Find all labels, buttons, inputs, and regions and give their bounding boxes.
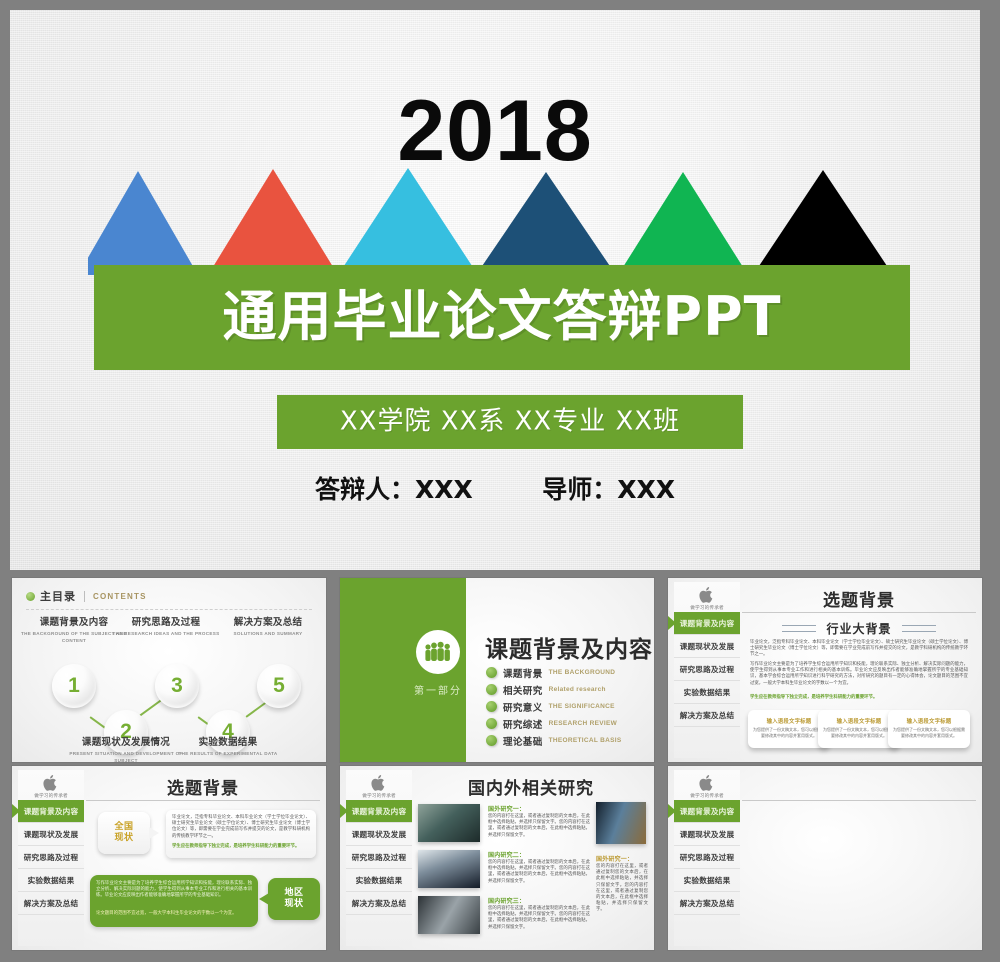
section-item[interactable]: 相关研究 Related research bbox=[486, 681, 621, 698]
item-en: THE BACKGROUND bbox=[549, 669, 616, 676]
section-part-label: 第一部分 bbox=[398, 682, 478, 697]
sidebar-item-1[interactable]: 课题现状及发展 bbox=[674, 823, 740, 846]
sidebar-item-label: 研究思路及过程 bbox=[24, 852, 79, 863]
brand-logo: 做学习的传承者 bbox=[346, 774, 412, 799]
sidebar-items: 课题背景及内容 课题现状及发展 研究思路及过程 实验数据结果 解决方案及总结 bbox=[18, 800, 84, 915]
main-slide[interactable]: 2018 通用毕业论文答辩PPT XX学院 XX系 XX专业 XX班 答辩人：X… bbox=[10, 10, 980, 570]
bullet-icon bbox=[486, 684, 497, 695]
card-body: 为您提供了一份文稿文本，您可以根据需要修改其中的内容并套用版式。 bbox=[753, 727, 825, 739]
subtitle-text: 行业大背景 bbox=[826, 622, 891, 636]
sidebar-item-3[interactable]: 实验数据结果 bbox=[674, 681, 740, 704]
sidebar-item-label: 课题背景及内容 bbox=[680, 618, 735, 629]
mountain-peaks-graphic bbox=[88, 165, 918, 275]
sidebar-item-label: 解决方案及总结 bbox=[680, 898, 735, 909]
catalog-heading-en: CONTENTS bbox=[93, 592, 147, 601]
sidebar-items: 课题背景及内容 课题现状及发展 研究思路及过程 实验数据结果 解决方案及总结 bbox=[674, 612, 740, 727]
research-body-2: 您的内容打在这里，或者通过复制您的文本后，在此框中选择粘贴，并选择只保留文字。您… bbox=[488, 860, 590, 885]
sidebar-item-4[interactable]: 解决方案及总结 bbox=[674, 892, 740, 915]
section-item[interactable]: 研究意义 THE SIGNIFICANCE bbox=[486, 698, 621, 715]
sidebar-item-label: 课题现状及发展 bbox=[680, 829, 735, 840]
sidebar-item-label: 实验数据结果 bbox=[28, 875, 75, 886]
slide-sidebar: 做学习的传承者 课题背景及内容 课题现状及发展 研究思路及过程 实验数据结果 解… bbox=[674, 770, 740, 946]
catalog-node-1[interactable]: 1 bbox=[52, 664, 96, 708]
apple-icon bbox=[699, 586, 715, 604]
peak-blue bbox=[88, 171, 198, 275]
slide-body: 选题背景 行业大背景 毕业论文，泛指专科毕业论文、本科毕业论文（学士学位毕业论文… bbox=[742, 582, 976, 758]
sidebar-item-2[interactable]: 研究思路及过程 bbox=[674, 846, 740, 869]
sidebar-item-label: 解决方案及总结 bbox=[680, 710, 735, 721]
catalog-heading-zh: 主目录 bbox=[40, 588, 76, 604]
item-zh: 理论基础 bbox=[503, 734, 543, 748]
sidebar-item-0[interactable]: 课题背景及内容 bbox=[674, 800, 740, 823]
sidebar-item-0[interactable]: 课题背景及内容 bbox=[346, 800, 412, 823]
research-body-3: 您的内容打在这里，或者通过复制您的文本后，在此框中选择粘贴，并选择只保留文字。您… bbox=[488, 906, 590, 931]
slide-sidebar: 做学习的传承者 课题背景及内容 课题现状及发展 研究思路及过程 实验数据结果 解… bbox=[18, 770, 84, 946]
photo-stairs bbox=[418, 804, 480, 842]
presenter-name: 答辩人：XXX bbox=[315, 475, 473, 505]
catalog-heading: 主目录 CONTENTS bbox=[26, 588, 147, 604]
thumbnail-grid: 主目录 CONTENTS 1 2 3 4 bbox=[0, 576, 1000, 962]
sidebar-items: 课题背景及内容 课题现状及发展 研究思路及过程 实验数据结果 解决方案及总结 bbox=[674, 800, 740, 915]
peak-black bbox=[753, 170, 893, 275]
heading-rule bbox=[26, 609, 312, 610]
slide-title: 选题背景 bbox=[86, 774, 320, 799]
sidebar-item-0[interactable]: 课题背景及内容 bbox=[674, 612, 740, 635]
sidebar-item-label: 课题现状及发展 bbox=[352, 829, 407, 840]
sidebar-item-2[interactable]: 研究思路及过程 bbox=[18, 846, 84, 869]
people-group-icon bbox=[416, 630, 460, 674]
research-body-1: 您的内容打在这里，或者通过复制您的文本后，在此框中选择粘贴，并选择只保留文字。您… bbox=[488, 814, 590, 839]
title-rule bbox=[86, 800, 320, 801]
brand-logo: 做学习的传承者 bbox=[674, 586, 740, 611]
leaf-dot-icon bbox=[26, 592, 35, 601]
thumbnail-topic-background-industry[interactable]: 做学习的传承者 课题背景及内容 课题现状及发展 研究思路及过程 实验数据结果 解… bbox=[668, 578, 982, 762]
sidebar-item-label: 研究思路及过程 bbox=[680, 852, 735, 863]
section-title: 课题背景及内容 bbox=[485, 630, 653, 664]
node-number: 3 bbox=[171, 674, 183, 698]
bullet-icon bbox=[486, 735, 497, 746]
section-item-list: 课题背景 THE BACKGROUND 相关研究 Related researc… bbox=[486, 664, 621, 749]
panel-highlight: 学生应在教师指导下独立完成，是培养学生科研能力的重要环节。 bbox=[172, 844, 310, 850]
research-heading-2: 国内研究二： bbox=[488, 850, 525, 859]
sidebar-item-4[interactable]: 解决方案及总结 bbox=[674, 704, 740, 727]
callout-label: 地区 现状 bbox=[284, 888, 303, 910]
body-paragraph-1: 毕业论文，泛指专科毕业论文、本科毕业论文（学士学位毕业论文）、硕士研究生毕业论文… bbox=[750, 640, 968, 659]
logo-caption: 做学习的传承者 bbox=[18, 793, 84, 799]
body-paragraph-2: 写作毕业论文主要是为了培养学生综合运用所学知识和技能，理论联系实际、独立分析、解… bbox=[750, 662, 968, 687]
subtitle-band: XX学院 XX系 XX专业 XX班 bbox=[277, 395, 743, 449]
item-en: Related research bbox=[549, 686, 606, 693]
catalog-label-4: 实验数据结果 THE RESULTS OF EXPERIMENTAL DATA bbox=[168, 734, 288, 757]
title-rule bbox=[742, 800, 976, 801]
node-number: 5 bbox=[273, 674, 285, 698]
sidebar-item-label: 实验数据结果 bbox=[356, 875, 403, 886]
section-subtitle: 行业大背景 bbox=[742, 620, 976, 638]
title-rule bbox=[742, 612, 976, 613]
sidebar-item-3[interactable]: 实验数据结果 bbox=[18, 869, 84, 892]
label-en: THE RESULTS OF EXPERIMENTAL DATA bbox=[168, 750, 288, 757]
divider bbox=[84, 591, 85, 602]
brand-logo: 做学习的传承者 bbox=[18, 774, 84, 799]
sidebar-item-label: 课题现状及发展 bbox=[680, 641, 735, 652]
sidebar-item-label: 解决方案及总结 bbox=[352, 898, 407, 909]
logo-caption: 做学习的传承者 bbox=[674, 793, 740, 799]
sidebar-item-3[interactable]: 实验数据结果 bbox=[346, 869, 412, 892]
item-en: THEORETICAL BASIS bbox=[549, 737, 622, 744]
sidebar-item-label: 课题背景及内容 bbox=[352, 806, 407, 817]
apple-icon bbox=[371, 774, 387, 792]
callout-national: 全国 现状 bbox=[98, 812, 150, 854]
sidebar-item-label: 课题背景及内容 bbox=[680, 806, 735, 817]
panel-highlight: 论文题目的范围不宜过宽，一般大学本科生毕业论文的字数以一个为宜。 bbox=[96, 911, 252, 917]
bullet-icon bbox=[486, 701, 497, 712]
bullet-icon bbox=[486, 718, 497, 729]
research-heading-3: 国内研究三： bbox=[488, 896, 525, 905]
item-en: THE SIGNIFICANCE bbox=[549, 703, 615, 710]
node-number: 1 bbox=[68, 674, 80, 698]
sidebar-item-1[interactable]: 课题现状及发展 bbox=[18, 823, 84, 846]
thumbnail-section-divider[interactable]: 第一部分 课题背景及内容 课题背景 THE BACKGROUND 相关研究 Re… bbox=[340, 578, 654, 762]
thumbnail-blank-slide[interactable]: 做学习的传承者 课题背景及内容 课题现状及发展 研究思路及过程 实验数据结果 解… bbox=[668, 766, 982, 950]
thumbnail-topic-background-status[interactable]: 做学习的传承者 课题背景及内容 课题现状及发展 研究思路及过程 实验数据结果 解… bbox=[12, 766, 326, 950]
main-title-band: 通用毕业论文答辩PPT bbox=[94, 265, 910, 370]
sidebar-item-2[interactable]: 研究思路及过程 bbox=[346, 846, 412, 869]
sidebar-item-label: 课题现状及发展 bbox=[24, 829, 79, 840]
sidebar-item-label: 解决方案及总结 bbox=[24, 898, 79, 909]
rule-right bbox=[902, 625, 936, 632]
panel-text: 写作毕业论文主要是为了培养学生综合运用所学知识和技能，理论联系实际、独立分析、解… bbox=[96, 881, 252, 900]
photo-buildings bbox=[418, 896, 480, 934]
peak-cyan bbox=[338, 168, 478, 275]
catalog-label-5: 解决方案及总结 SOLUTIONS AND SUMMARY bbox=[208, 614, 326, 637]
slide-body: 国内外相关研究 国外研究一： 您的内容打在这里，或者通过复制您的文本后，在此框中… bbox=[414, 770, 648, 946]
card-title: 输入语段文字标题 bbox=[888, 717, 970, 725]
slide-title: 选题背景 bbox=[742, 586, 976, 611]
sidebar-item-1[interactable]: 课题现状及发展 bbox=[346, 823, 412, 846]
sidebar-item-label: 研究思路及过程 bbox=[680, 664, 735, 675]
body-highlight: 学生应在教师指导下独立完成，是培养学生科研能力的重要环节。 bbox=[750, 695, 968, 701]
main-title: 通用毕业论文答辩PPT bbox=[94, 287, 910, 345]
section-item[interactable]: 理论基础 THEORETICAL BASIS bbox=[486, 732, 621, 749]
item-zh: 研究综述 bbox=[503, 717, 543, 731]
slide-title: 国内外相关研究 bbox=[414, 774, 648, 799]
panel-text: 毕业论文，泛指专科毕业论文、本科毕业论文（学士学位毕业论文）、硕士研究生毕业论文… bbox=[172, 815, 310, 840]
callout-regional: 地区 现状 bbox=[268, 878, 320, 920]
item-en: RESEARCH REVIEW bbox=[549, 720, 617, 727]
peak-green bbox=[618, 172, 748, 275]
sidebar-item-2[interactable]: 研究思路及过程 bbox=[674, 658, 740, 681]
slide-body bbox=[742, 770, 976, 946]
logo-caption: 做学习的传承者 bbox=[346, 793, 412, 799]
label-zh: 解决方案及总结 bbox=[208, 614, 326, 628]
sidebar-items: 课题背景及内容 课题现状及发展 研究思路及过程 实验数据结果 解决方案及总结 bbox=[346, 800, 412, 915]
brand-logo: 做学习的传承者 bbox=[674, 774, 740, 799]
thumbnail-catalog[interactable]: 主目录 CONTENTS 1 2 3 4 bbox=[12, 578, 326, 762]
sidebar-item-3[interactable]: 实验数据结果 bbox=[674, 869, 740, 892]
sidebar-item-label: 实验数据结果 bbox=[684, 687, 731, 698]
photo-skyscraper bbox=[596, 802, 646, 844]
catalog-chain: 1 2 3 4 5 课题背景及内容 THE BACKGROUND OF THE … bbox=[12, 612, 326, 762]
card-body: 为您提供了一份文稿文本，您可以根据需要修改其中的内容并套用版式。 bbox=[823, 727, 895, 739]
bullet-icon bbox=[486, 667, 497, 678]
rule-left bbox=[782, 625, 816, 632]
slide-body: 选题背景 全国 现状 毕业论文，泛指专科毕业论文、本科毕业论文（学士学位毕业论文… bbox=[86, 770, 320, 946]
sidebar-item-4[interactable]: 解决方案及总结 bbox=[346, 892, 412, 915]
year-heading: 2018 bbox=[10, 88, 980, 174]
apple-icon bbox=[699, 774, 715, 792]
section-item[interactable]: 研究综述 RESEARCH REVIEW bbox=[486, 715, 621, 732]
item-zh: 研究意义 bbox=[503, 700, 543, 714]
label-zh: 实验数据结果 bbox=[168, 734, 288, 748]
item-zh: 相关研究 bbox=[503, 683, 543, 697]
sidebar-item-label: 研究思路及过程 bbox=[352, 852, 407, 863]
peak-navy bbox=[476, 172, 616, 275]
sidebar-item-label: 实验数据结果 bbox=[684, 875, 731, 886]
catalog-node-3[interactable]: 3 bbox=[155, 664, 199, 708]
slide-sidebar: 做学习的传承者 课题背景及内容 课题现状及发展 研究思路及过程 实验数据结果 解… bbox=[346, 770, 412, 946]
item-zh: 课题背景 bbox=[503, 666, 543, 680]
callout-label: 全国 现状 bbox=[114, 822, 133, 844]
info-card-3[interactable]: 输入语段文字标题 为您提供了一份文稿文本，您可以根据需要修改其中的内容并套用版式… bbox=[888, 710, 970, 748]
research-side-heading: 国外研究一： bbox=[596, 854, 633, 863]
panel-national: 毕业论文，泛指专科毕业论文、本科毕业论文（学士学位毕业论文）、硕士研究生毕业论文… bbox=[166, 810, 316, 858]
sidebar-item-label: 课题背景及内容 bbox=[24, 806, 79, 817]
advisor-name: 导师：XXX bbox=[542, 475, 675, 505]
photo-clouds bbox=[418, 850, 480, 888]
logo-caption: 做学习的传承者 bbox=[674, 605, 740, 611]
peak-red bbox=[208, 169, 338, 275]
card-body: 为您提供了一份文稿文本，您可以根据需要修改其中的内容并套用版式。 bbox=[893, 727, 965, 739]
catalog-node-5[interactable]: 5 bbox=[257, 664, 301, 708]
subtitle-text: XX学院 XX系 XX专业 XX班 bbox=[277, 407, 743, 435]
section-item[interactable]: 课题背景 THE BACKGROUND bbox=[486, 664, 621, 681]
presenter-row: 答辩人：XXX 导师：XXX bbox=[10, 475, 980, 505]
research-side-body: 您的内容打在这里，或者通过复制您的文本后，在此框中选择粘贴，并选择只保留文字。您… bbox=[596, 864, 648, 914]
sidebar-item-0[interactable]: 课题背景及内容 bbox=[18, 800, 84, 823]
presentation-preview: 2018 通用毕业论文答辩PPT XX学院 XX系 XX专业 XX班 答辩人：X… bbox=[0, 0, 1000, 962]
panel-regional: 写作毕业论文主要是为了培养学生综合运用所学知识和技能，理论联系实际、独立分析、解… bbox=[90, 875, 258, 927]
slide-sidebar: 做学习的传承者 课题背景及内容 课题现状及发展 研究思路及过程 实验数据结果 解… bbox=[674, 582, 740, 758]
sidebar-item-4[interactable]: 解决方案及总结 bbox=[18, 892, 84, 915]
research-heading-1: 国外研究一： bbox=[488, 804, 525, 813]
thumbnail-related-research[interactable]: 做学习的传承者 课题背景及内容 课题现状及发展 研究思路及过程 实验数据结果 解… bbox=[340, 766, 654, 950]
apple-icon bbox=[43, 774, 59, 792]
label-en: SOLUTIONS AND SUMMARY bbox=[208, 630, 326, 637]
sidebar-item-1[interactable]: 课题现状及发展 bbox=[674, 635, 740, 658]
